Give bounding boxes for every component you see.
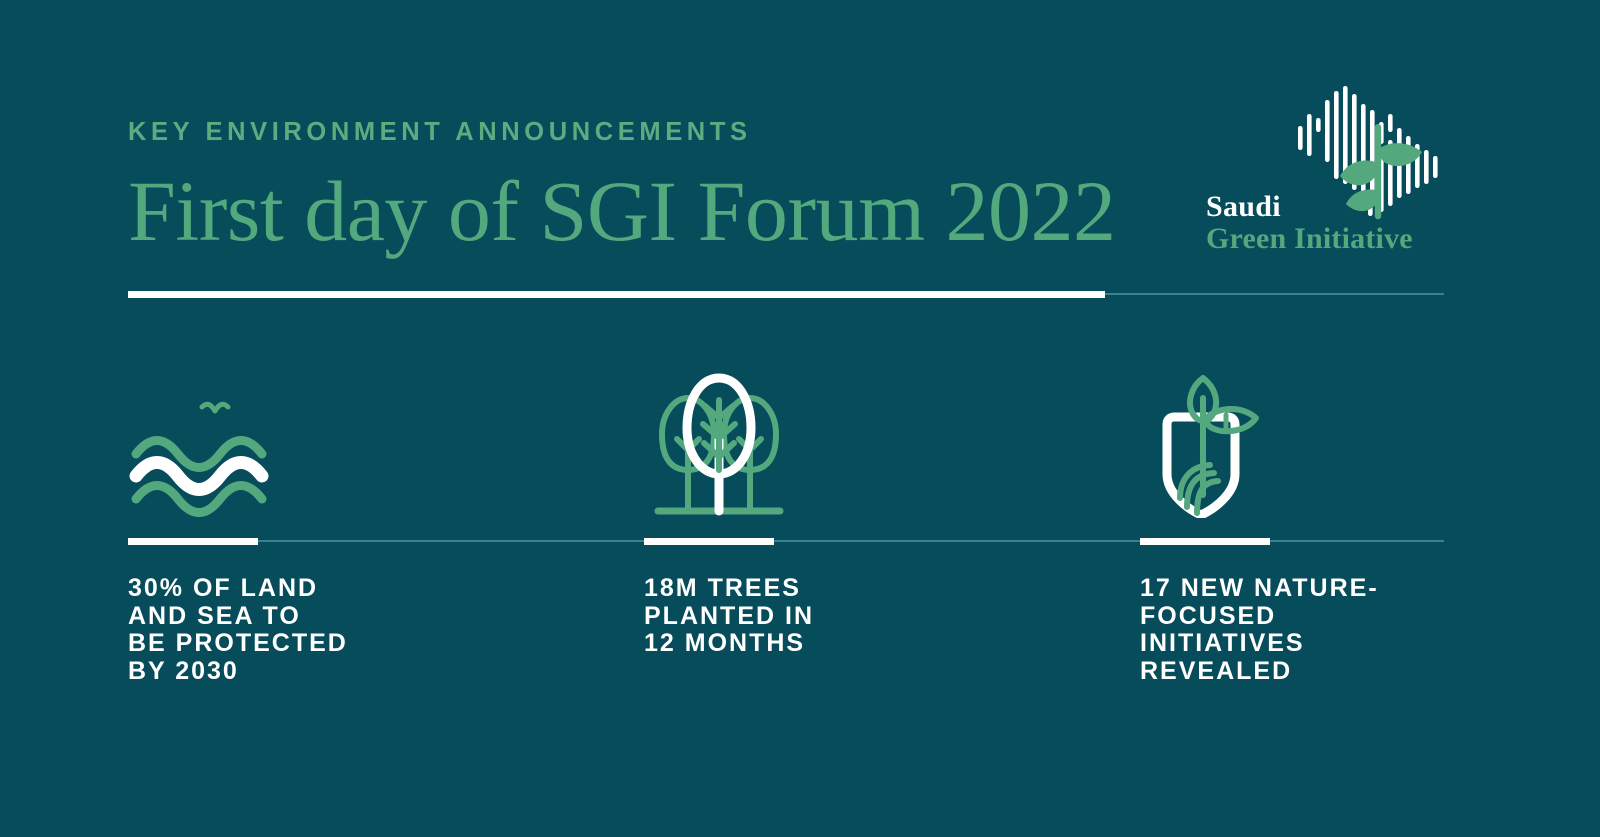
- sgi-logo: Saudi Green Initiative: [1198, 84, 1448, 256]
- waves-and-bird-icon: [128, 370, 278, 518]
- stats-divider-segment-2: [644, 538, 774, 545]
- stat-text-trees: 18M TREES PLANTED IN 12 MONTHS: [644, 575, 984, 658]
- sgi-logo-text: Saudi Green Initiative: [1206, 191, 1448, 254]
- sgi-logo-line2: Green Initiative: [1206, 223, 1448, 255]
- header-divider: [128, 291, 1444, 298]
- infographic-poster: KEY ENVIRONMENT ANNOUNCEMENTS First day …: [0, 0, 1600, 837]
- header-divider-thick: [128, 291, 1105, 298]
- stat-text-land-and-sea: 30% OF LAND AND SEA TO BE PROTECTED BY 2…: [128, 575, 468, 685]
- stat-text-initiatives: 17 NEW NATURE- FOCUSED INITIATIVES REVEA…: [1140, 575, 1480, 685]
- stats-divider-segment-1: [128, 538, 258, 545]
- sgi-logo-line1: Saudi: [1206, 191, 1448, 223]
- shield-with-sprout-icon: [1140, 370, 1290, 518]
- stats-divider-segment-3: [1140, 538, 1270, 545]
- stats-divider: [128, 538, 1444, 545]
- header-divider-thin: [1105, 293, 1444, 295]
- three-trees-icon: [644, 370, 794, 518]
